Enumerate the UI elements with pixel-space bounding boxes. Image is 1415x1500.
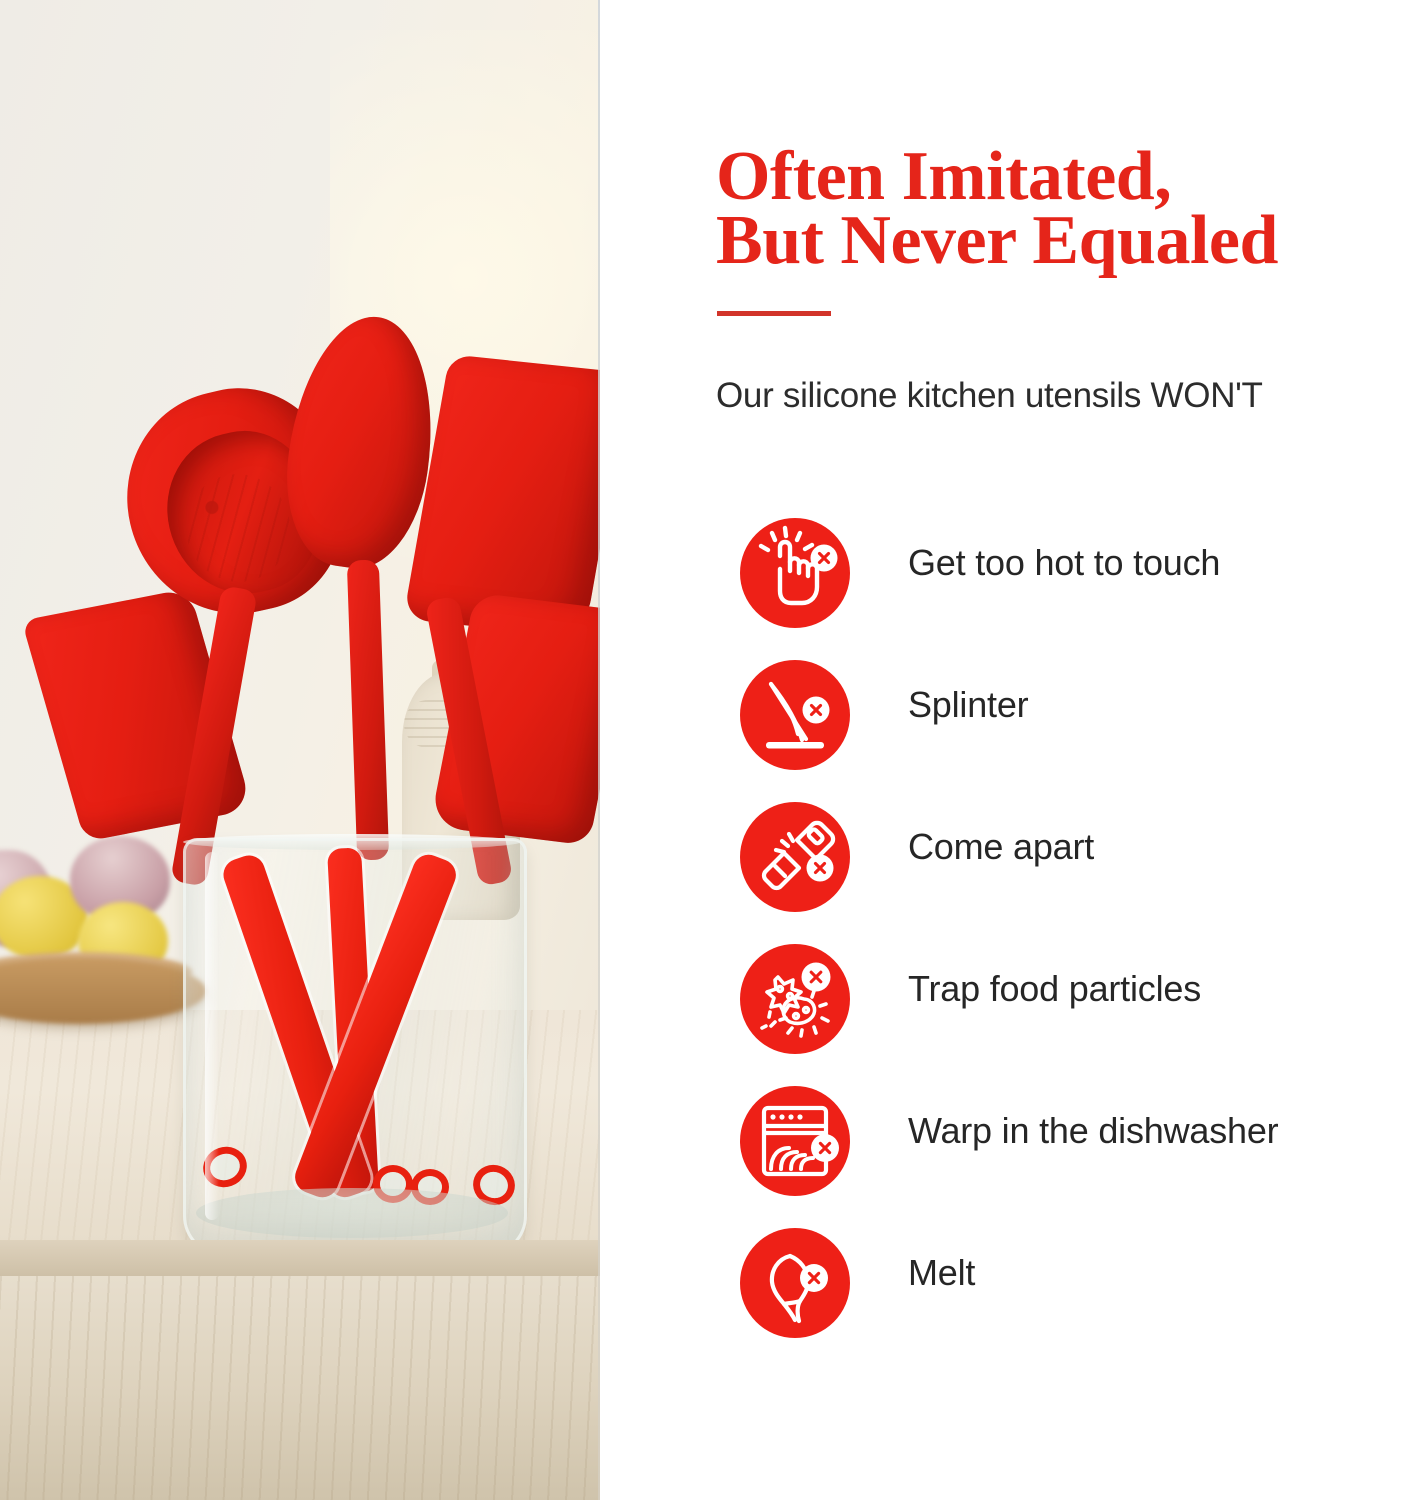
germs-bacteria-icon: [740, 944, 850, 1054]
list-item: Warp in the dishwasher: [600, 1086, 1415, 1228]
list-item: Melt: [600, 1228, 1415, 1370]
dishwasher-icon: [740, 1086, 850, 1196]
countertop-front-grain: [0, 1276, 600, 1500]
list-item: Get too hot to touch: [600, 518, 1415, 660]
list-item: Splinter: [600, 660, 1415, 802]
infographic-sheet: Often Imitated, But Never Equaled Our si…: [0, 0, 1415, 1500]
melting-spatula-icon: [740, 1228, 850, 1338]
list-item-label: Melt: [908, 1252, 975, 1294]
countertop-edge: [0, 1240, 600, 1278]
list-item: Trap food particles: [600, 944, 1415, 1086]
list-item-label: Trap food particles: [908, 968, 1201, 1010]
subtitle: Our silicone kitchen utensils WON'T: [716, 376, 1415, 416]
list-item-label: Splinter: [908, 684, 1028, 726]
glass-jar-bottom: [196, 1188, 508, 1238]
hand-touch-heat-icon: [740, 518, 850, 628]
glass-jar-rim: [183, 834, 521, 850]
wood-splinter-icon: [740, 660, 850, 770]
list-item-label: Get too hot to touch: [908, 542, 1220, 584]
glass-jar-highlight: [205, 852, 219, 1220]
product-photo: [0, 0, 600, 1500]
page-title: Often Imitated, But Never Equaled: [716, 145, 1415, 272]
utensil-broken-icon: [740, 802, 850, 912]
title-underline-rule: [717, 311, 831, 316]
list-item-label: Warp in the dishwasher: [908, 1110, 1278, 1152]
feature-list: Get too hot to touch: [600, 518, 1415, 1370]
content-panel: Often Imitated, But Never Equaled Our si…: [600, 0, 1415, 1500]
list-item: Come apart: [600, 802, 1415, 944]
list-item-label: Come apart: [908, 826, 1094, 868]
